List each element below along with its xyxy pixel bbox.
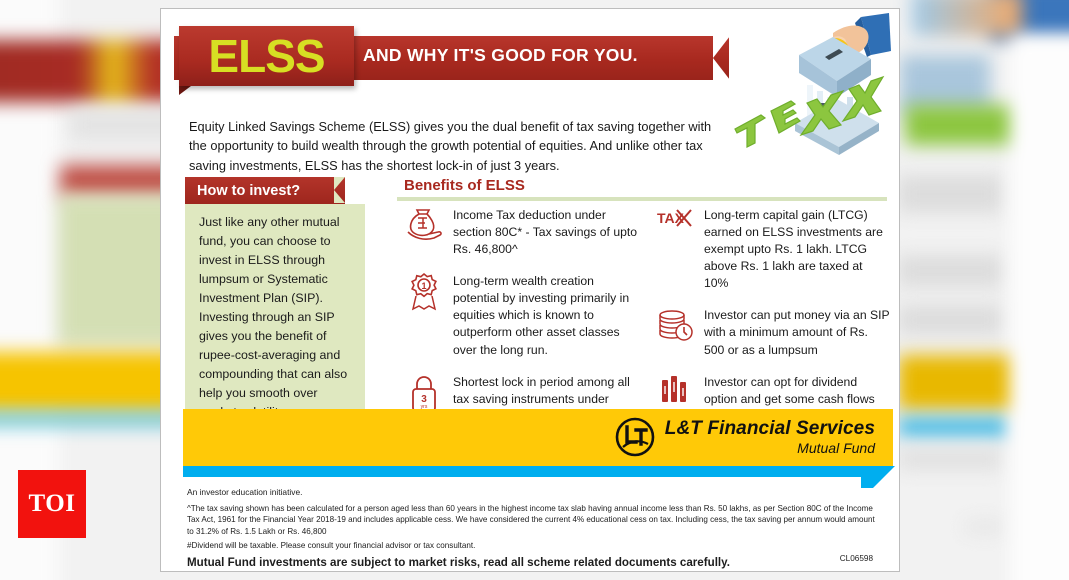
brand-lockup: L&T Financial Services Mutual Fund: [615, 417, 875, 457]
ribbon-fold-icon: [179, 86, 191, 95]
background-blur-shape: [905, 105, 1025, 145]
benefit-text: Long-term wealth creation potential by i…: [453, 271, 639, 358]
page-title: ELSS: [208, 33, 324, 79]
money-bag-in-hand-icon: [404, 205, 444, 249]
benefit-item: 1 Long-term wealth creation potential by…: [404, 271, 639, 358]
how-to-invest-panel: How to invest? Just like any other mutua…: [185, 177, 365, 436]
benefit-text: Long-term capital gain (LTCG) earned on …: [704, 205, 890, 292]
disclaimer-risk-statement: Mutual Fund investments are subject to m…: [187, 556, 877, 569]
background-blur-shape: [965, 520, 1005, 534]
background-blur-shape: [1010, 35, 1069, 580]
brand-subtitle: Mutual Fund: [665, 441, 875, 456]
award-ribbon-number-one-icon: 1: [404, 271, 444, 315]
benefit-item: Income Tax deduction under section 80C* …: [404, 205, 639, 258]
benefit-item: Investor can put money via an SIP with a…: [655, 305, 890, 358]
intro-paragraph: Equity Linked Savings Scheme (ELSS) give…: [189, 117, 714, 175]
background-blur-shape: [898, 305, 1003, 335]
toi-logo-label: TOI: [29, 490, 76, 518]
brand-text-block: L&T Financial Services Mutual Fund: [665, 419, 875, 456]
brand-accent-strip: [183, 466, 873, 477]
background-blur-shape: [898, 448, 1003, 470]
tax-bank-coin-illustration: [721, 11, 891, 161]
background-blur-shape: [898, 175, 1003, 213]
disclaimer-block: An investor education initiative. ^The t…: [187, 487, 877, 569]
background-blur-shape: [898, 255, 1003, 287]
disclaimer-education-line: An investor education initiative.: [187, 487, 877, 497]
background-blur-shape: [912, 0, 1022, 36]
brand-band: L&T Financial Services Mutual Fund: [183, 409, 893, 466]
disclaimer-tax-note: ^The tax saving shown has been calculate…: [187, 503, 877, 537]
header-subtitle: AND WHY IT'S GOOD FOR YOU.: [363, 45, 638, 66]
benefits-column-left: Income Tax deduction under section 80C* …: [404, 205, 639, 438]
background-blur-shape: [898, 355, 1023, 410]
award-icon-label: 1: [421, 281, 426, 291]
lt-financial-services-logo: [615, 417, 655, 457]
brand-name: L&T Financial Services: [665, 419, 875, 439]
header-title-block: ELSS: [179, 26, 354, 86]
how-to-invest-body: Just like any other mutual fund, you can…: [185, 204, 365, 436]
benefit-text: Investor can put money via an SIP with a…: [704, 305, 890, 358]
how-to-invest-heading: How to invest?: [197, 183, 300, 199]
benefit-item: TAX Long-term capital gain (LTCG) earned…: [655, 205, 890, 292]
elss-infographic-poster: ELSS AND WHY IT'S GOOD FOR YOU.: [160, 8, 900, 572]
coin-stack-clock-icon: [655, 305, 695, 349]
tax-crossed-out-icon: TAX: [655, 205, 695, 249]
disclaimer-dividend-note: #Dividend will be taxable. Please consul…: [187, 541, 877, 550]
how-to-invest-header: How to invest?: [185, 177, 345, 204]
background-blur-shape: [898, 418, 1010, 436]
benefit-text: Income Tax deduction under section 80C* …: [453, 205, 639, 258]
toi-watermark-logo: TOI: [18, 470, 86, 538]
benefits-heading: Benefits of ELSS: [404, 177, 525, 194]
benefits-column-right: TAX Long-term capital gain (LTCG) earned…: [655, 205, 890, 438]
brand-arrow-icon: [861, 466, 895, 488]
poster-header: ELSS AND WHY IT'S GOOD FOR YOU.: [161, 9, 899, 109]
disclaimer-reference-code: CL06598: [840, 554, 873, 563]
benefits-divider: [397, 197, 887, 201]
tax-icon-label: TAX: [657, 210, 685, 226]
